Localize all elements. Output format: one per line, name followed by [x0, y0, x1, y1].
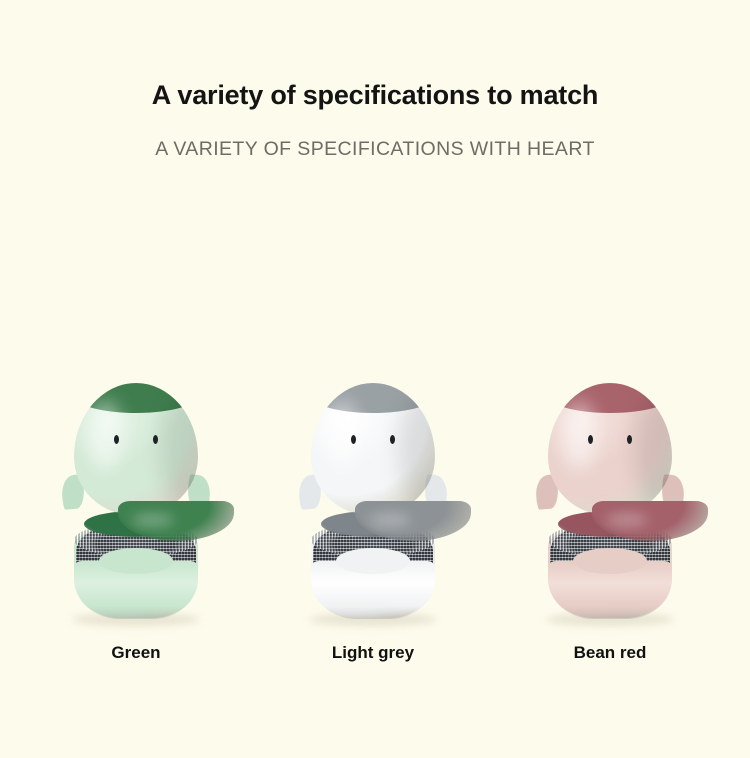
body-shading — [636, 393, 672, 513]
base-bowl-notch — [99, 548, 173, 574]
product-body — [540, 383, 680, 533]
base-bowl-notch — [336, 548, 410, 574]
base-bowl-front-wall — [74, 561, 198, 619]
product-body — [303, 383, 443, 533]
product-label-light-grey: Light grey — [263, 643, 483, 663]
eye-right-icon — [153, 435, 158, 444]
body-shell — [548, 383, 672, 515]
eye-left-icon — [114, 435, 119, 444]
product-body — [66, 383, 206, 533]
product-variant-row: Green — [0, 375, 750, 705]
eye-right-icon — [390, 435, 395, 444]
header: A variety of specifications to match A V… — [0, 0, 750, 161]
body-shading — [162, 393, 198, 513]
eye-left-icon — [351, 435, 356, 444]
base-bowl-front-wall — [548, 561, 672, 619]
eye-left-icon — [588, 435, 593, 444]
product-variant-green[interactable]: Green — [26, 375, 246, 705]
product-image-light-grey — [263, 375, 483, 630]
collar-highlight — [369, 513, 411, 527]
collar-highlight — [606, 513, 648, 527]
base-bowl-front-wall — [311, 561, 435, 619]
product-variant-bean-red[interactable]: Bean red — [500, 375, 720, 705]
product-image-bean-red — [500, 375, 720, 630]
product-image-green — [26, 375, 246, 630]
product-label-bean-red: Bean red — [500, 643, 720, 663]
body-shading — [399, 393, 435, 513]
product-label-green: Green — [26, 643, 246, 663]
page-title: A variety of specifications to match — [0, 0, 750, 111]
base-bowl-notch — [573, 548, 647, 574]
body-shell — [74, 383, 198, 515]
product-variant-light-grey[interactable]: Light grey — [263, 375, 483, 705]
product-showcase-page: A variety of specifications to match A V… — [0, 0, 750, 758]
eye-right-icon — [627, 435, 632, 444]
page-subtitle: A VARIETY OF SPECIFICATIONS WITH HEART — [0, 111, 750, 161]
collar-highlight — [132, 513, 174, 527]
body-shell — [311, 383, 435, 515]
